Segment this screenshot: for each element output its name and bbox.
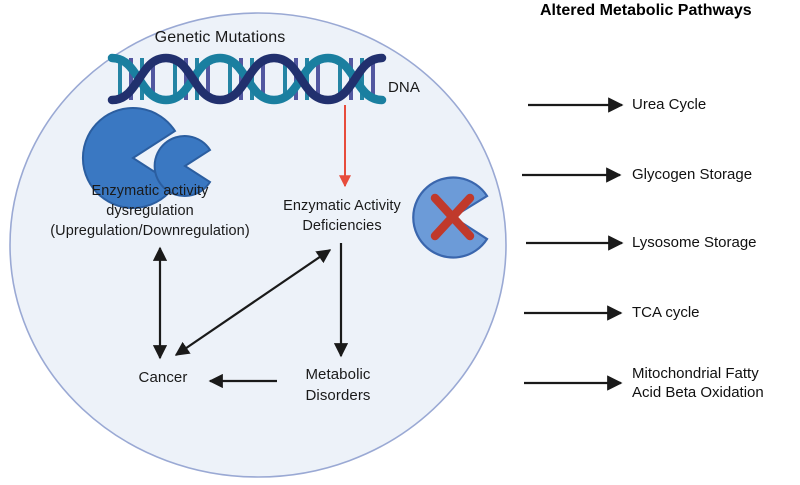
dna-label: DNA [388,78,448,97]
pathway-label-lysosome-storage: Lysosome Storage [632,233,757,252]
metabolic-disorders-label: Metabolic Disorders [282,364,394,406]
pathway-label-glycogen-storage: Glycogen Storage [632,165,752,184]
enzyme-deficiency-label: Enzymatic Activity Deficiencies [268,196,416,236]
enzyme-dysregulation-label: Enzymatic activity dysregulation (Upregu… [35,181,265,241]
pathway-label-mitochondrial-fatty-acid-beta-oxidation: Mitochondrial Fatty Acid Beta Oxidation [632,364,764,402]
cancer-label: Cancer [108,368,218,387]
genetic-mutations-label: Genetic Mutations [110,28,330,47]
pathway-label-urea-cycle: Urea Cycle [632,95,706,114]
pathways-title: Altered Metabolic Pathways [540,2,800,20]
pathway-label-tca-cycle: TCA cycle [632,303,700,322]
pathway-arrows [522,105,622,383]
diagram-canvas: Genetic Mutations DNA Enzymatic activity… [0,0,800,485]
